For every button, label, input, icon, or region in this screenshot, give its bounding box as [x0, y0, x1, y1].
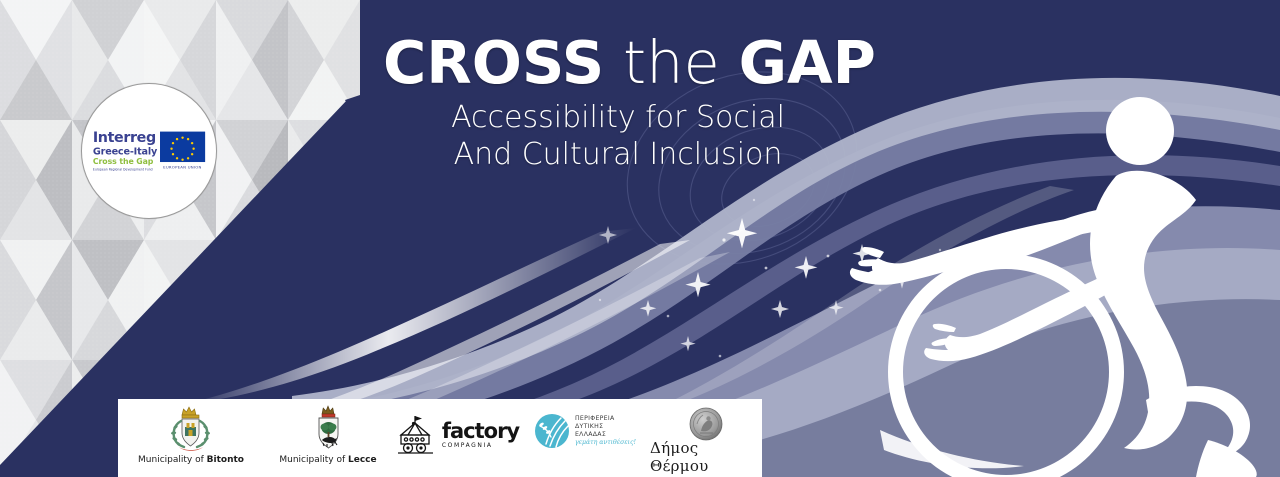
region-line-2: ΔΥΤΙΚΗΣ [575, 423, 636, 431]
region-line-3: ΕΛΛΑΔΑΣ [575, 431, 636, 439]
page-subtitle: Accessibility for Social And Cultural In… [383, 100, 853, 173]
bitonto-coat-of-arms-icon [168, 403, 214, 453]
title-cross: CROSS [383, 28, 604, 97]
partner-logos-bar: Municipality of Bitonto [118, 399, 762, 477]
interreg-fund-name: European Regional Development Fund [93, 168, 153, 171]
partner-thermo: Δήμος Θέρμου [650, 399, 762, 477]
cross-the-gap-banner: Interreg Greece-Italy Cross the Gap Euro… [0, 0, 1280, 477]
partner-bitonto-label: Municipality of Bitonto [138, 455, 244, 465]
interreg-project-name: Cross the Gap [93, 158, 153, 166]
subtitle-line-2: And Cultural Inclusion [383, 137, 853, 174]
factory-subtitle: COMPAGNIA [442, 443, 519, 449]
partner-factory-compagnia: factory COMPAGNIA [392, 399, 520, 477]
partner-lecce-label: Municipality of Lecce [279, 455, 376, 465]
page-title: CROSS the GAP [383, 33, 943, 93]
interreg-logo-badge: Interreg Greece-Italy Cross the Gap Euro… [81, 83, 217, 219]
interreg-area-name: Greece-Italy [93, 147, 157, 157]
region-line-1: ΠΕΡΙΦΕΡΕΙΑ [575, 415, 636, 423]
subtitle-line-1: Accessibility for Social [383, 100, 853, 137]
partner-lecce: Municipality of Lecce [264, 399, 392, 477]
title-the: the [604, 28, 738, 97]
factory-compagnia-wagon-icon [393, 413, 437, 457]
title-block: CROSS the GAP Accessibility for Social A… [383, 33, 943, 173]
ancient-coin-icon [689, 407, 723, 441]
interreg-program-name: Interreg [93, 131, 156, 145]
european-union-label: EUROPEAN UNION [163, 165, 201, 170]
partner-bitonto: Municipality of Bitonto [118, 399, 264, 477]
factory-name: factory [442, 421, 519, 442]
thermo-label: Δήμος Θέρμου [650, 439, 762, 475]
title-gap: GAP [739, 28, 876, 97]
european-union-flag-icon [160, 132, 205, 162]
partner-region-western-greece: ΠΕΡΙΦΕΡΕΙΑ ΔΥΤΙΚΗΣ ΕΛΛΑΔΑΣ γεμάτη αντιθέ… [520, 399, 650, 477]
region-of-western-greece-icon [534, 413, 570, 449]
region-tagline: γεμάτη αντιθέσεις! [575, 439, 636, 447]
lecce-coat-of-arms-icon [308, 403, 348, 453]
